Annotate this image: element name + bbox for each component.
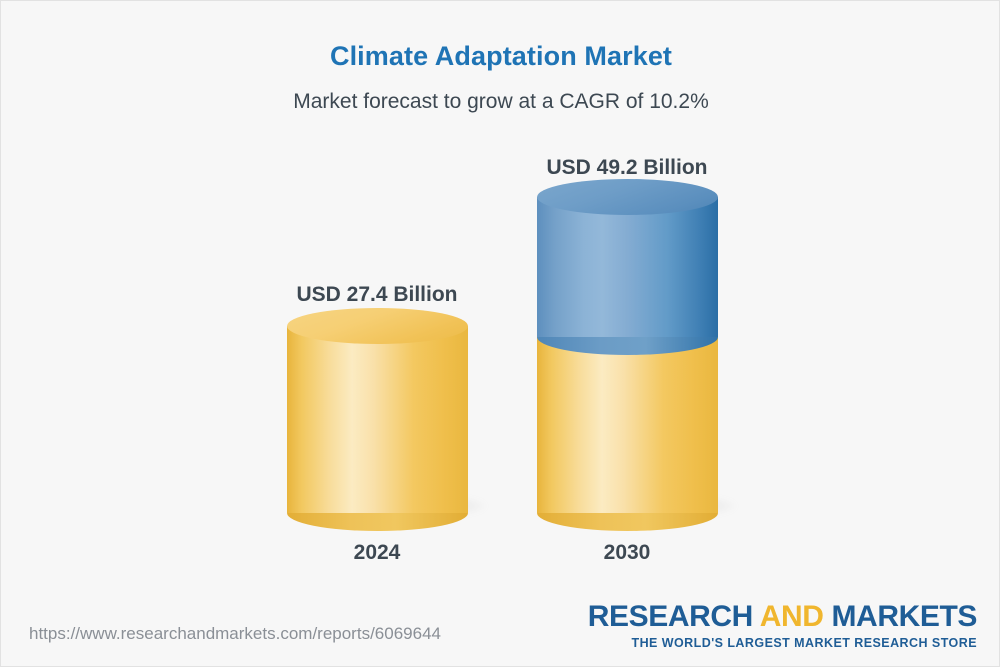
chart-subtitle: Market forecast to grow at a CAGR of 10.… — [1, 90, 1000, 114]
logo-tagline: THE WORLD'S LARGEST MARKET RESEARCH STOR… — [588, 636, 977, 650]
bar-group-2024: USD 27.4 Billion 2024 — [267, 131, 487, 571]
logo-text-research: RESEARCH — [588, 600, 760, 633]
data-label-2024: USD 27.4 Billion — [267, 283, 487, 307]
cylinder-body-blue — [537, 197, 718, 337]
cylinder-segment-base-2024 — [287, 326, 468, 513]
cylinder-body — [287, 326, 468, 513]
source-url[interactable]: https://www.researchandmarkets.com/repor… — [29, 624, 441, 644]
plot-area: USD 27.4 Billion 2024 USD 49.2 Billion — [1, 131, 1000, 571]
chart-title: Climate Adaptation Market — [1, 41, 1000, 72]
bar-group-2030: USD 49.2 Billion 2030 — [517, 131, 737, 571]
cylinder-segment-base-2030 — [537, 337, 718, 513]
category-label-2024: 2024 — [267, 541, 487, 565]
logo-text-and: AND — [760, 600, 824, 633]
logo-text-markets: MARKETS — [824, 600, 977, 633]
cylinder-top-cap — [537, 179, 718, 215]
data-label-2030: USD 49.2 Billion — [517, 156, 737, 180]
cylinder-segment-growth-2030 — [537, 197, 718, 337]
cylinder-body-yellow — [537, 337, 718, 513]
cylinder-2024 — [287, 326, 468, 513]
cylinder-2030 — [537, 197, 718, 513]
category-label-2030: 2030 — [517, 541, 737, 565]
brand-logo: RESEARCH AND MARKETS THE WORLD'S LARGEST… — [588, 602, 977, 650]
logo-wordmark: RESEARCH AND MARKETS — [588, 602, 977, 633]
chart-canvas: Climate Adaptation Market Market forecas… — [0, 0, 1000, 667]
cylinder-top-cap — [287, 308, 468, 344]
